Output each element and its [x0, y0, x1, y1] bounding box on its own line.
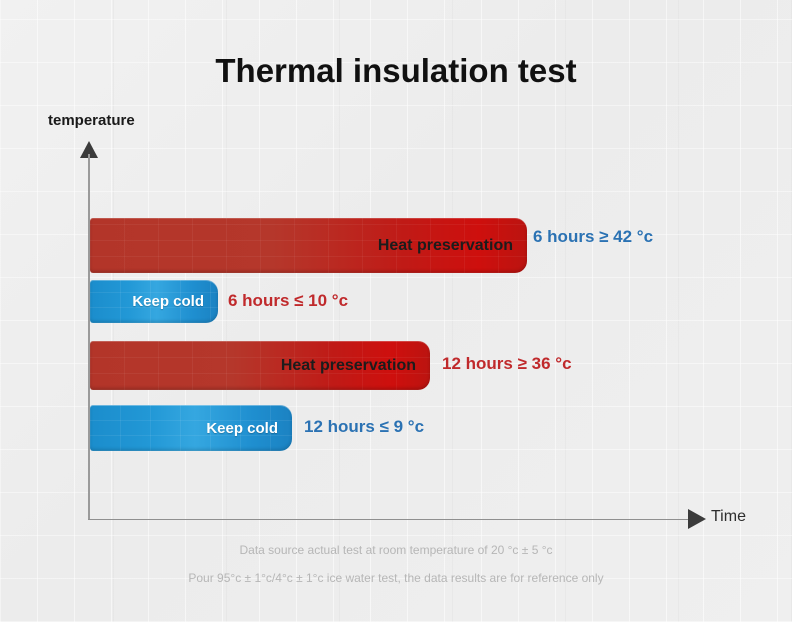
page-title: Thermal insulation test [0, 52, 792, 90]
bar-label: Heat preservation [281, 357, 430, 375]
bar-heat-preservation-6h: Heat preservation [90, 218, 527, 273]
chart-canvas: Thermal insulation test temperature Time… [0, 0, 792, 622]
arrow-right-icon [688, 509, 706, 529]
bar-keep-cold-12h: Keep cold [90, 405, 292, 451]
bar-annotation-heat-6h: 6 hours ≥ 42 °c [533, 227, 653, 247]
bar-label: Heat preservation [378, 237, 527, 255]
footnote-secondary: Pour 95°c ± 1°c/4°c ± 1°c ice water test… [0, 571, 792, 585]
y-axis-line [88, 154, 90, 520]
bar-label: Keep cold [132, 293, 218, 310]
bar-annotation-cold-12h: 12 hours ≤ 9 °c [304, 417, 424, 437]
x-axis-line [88, 519, 690, 520]
bar-annotation-cold-6h: 6 hours ≤ 10 °c [228, 291, 348, 311]
y-axis-label: temperature [48, 112, 135, 129]
bar-heat-preservation-12h: Heat preservation [90, 341, 430, 390]
x-axis-label: Time [711, 508, 746, 526]
bar-keep-cold-6h: Keep cold [90, 280, 218, 323]
footnote-primary: Data source actual test at room temperat… [0, 543, 792, 557]
bar-label: Keep cold [206, 420, 292, 437]
bar-annotation-heat-12h: 12 hours ≥ 36 °c [442, 354, 572, 374]
